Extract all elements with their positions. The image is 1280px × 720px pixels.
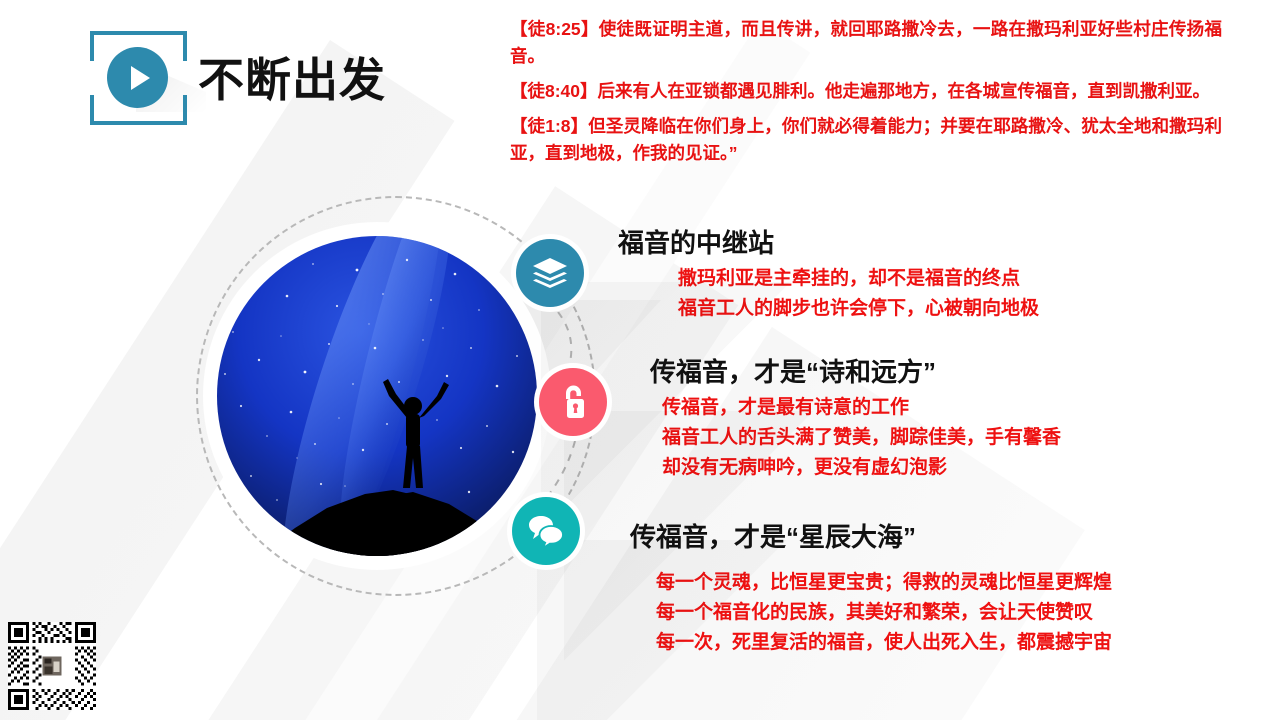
section-icon-layers[interactable] — [511, 234, 589, 312]
unlock-icon — [539, 368, 607, 436]
scripture-verse: 【徒8:40】后来有人在亚锁都遇见腓利。他走遍那地方，在各城宣传福音，直到凯撒利… — [510, 78, 1222, 105]
section-heading: 传福音，才是“诗和远方” — [650, 355, 1061, 389]
section-text-3: 传福音，才是“星辰大海” 每一个灵魂，比恒星更宝贵；得救的灵魂比恒星更辉煌 每一… — [630, 520, 1112, 658]
section-line: 却没有无病呻吟，更没有虚幻泡影 — [662, 453, 1061, 483]
section-body: 每一个灵魂，比恒星更宝贵；得救的灵魂比恒星更辉煌 每一个福音化的民族，其美好和繁… — [656, 568, 1112, 658]
section-text-1: 福音的中继站 撒玛利亚是主牵挂的，却不是福音的终点 福音工人的脚步也许会停下，心… — [618, 226, 1039, 324]
section-heading: 福音的中继站 — [618, 226, 1039, 260]
layers-icon — [516, 239, 584, 307]
section-body: 传福音，才是最有诗意的工作 福音工人的舌头满了赞美，脚踪佳美，手有馨香 却没有无… — [662, 393, 1061, 483]
scripture-verse: 【徒1:8】但圣灵降临在你们身上，你们就必得着能力；并要在耶路撒冷、犹太全地和撒… — [510, 113, 1222, 167]
section-icon-unlock[interactable] — [534, 363, 612, 441]
icon-ring — [507, 492, 585, 570]
icon-ring — [534, 363, 612, 441]
section-line: 每一次，死里复活的福音，使人出死入生，都震撼宇宙 — [656, 628, 1112, 658]
play-button-icon — [107, 47, 168, 108]
section-line: 传福音，才是最有诗意的工作 — [662, 393, 1061, 423]
scripture-verse: 【徒8:25】使徒既证明主道，而且传讲，就回耶路撒冷去，一路在撒玛利亚好些村庄传… — [510, 16, 1222, 70]
scripture-block: 【徒8:25】使徒既证明主道，而且传讲，就回耶路撒冷去，一路在撒玛利亚好些村庄传… — [510, 16, 1222, 175]
section-line: 福音工人的脚步也许会停下，心被朝向地极 — [678, 294, 1039, 324]
section-heading: 传福音，才是“星辰大海” — [630, 520, 1112, 554]
section-body: 撒玛利亚是主牵挂的，却不是福音的终点 福音工人的脚步也许会停下，心被朝向地极 — [678, 264, 1039, 324]
section-line: 撒玛利亚是主牵挂的，却不是福音的终点 — [678, 264, 1039, 294]
page-title: 不断出发 — [198, 44, 386, 110]
section-text-2: 传福音，才是“诗和远方” 传福音，才是最有诗意的工作 福音工人的舌头满了赞美，脚… — [650, 355, 1061, 483]
starry-night-photo — [217, 236, 537, 556]
section-line: 每一个福音化的民族，其美好和繁荣，会让天使赞叹 — [656, 598, 1112, 628]
section-line: 每一个灵魂，比恒星更宝贵；得救的灵魂比恒星更辉煌 — [656, 568, 1112, 598]
play-triangle-icon — [131, 66, 150, 90]
section-icon-chat[interactable] — [507, 492, 585, 570]
icon-ring — [511, 234, 589, 312]
qr-code-icon[interactable] — [8, 622, 96, 710]
section-line: 福音工人的舌头满了赞美，脚踪佳美，手有馨香 — [662, 423, 1061, 453]
chat-bubbles-icon — [512, 497, 580, 565]
